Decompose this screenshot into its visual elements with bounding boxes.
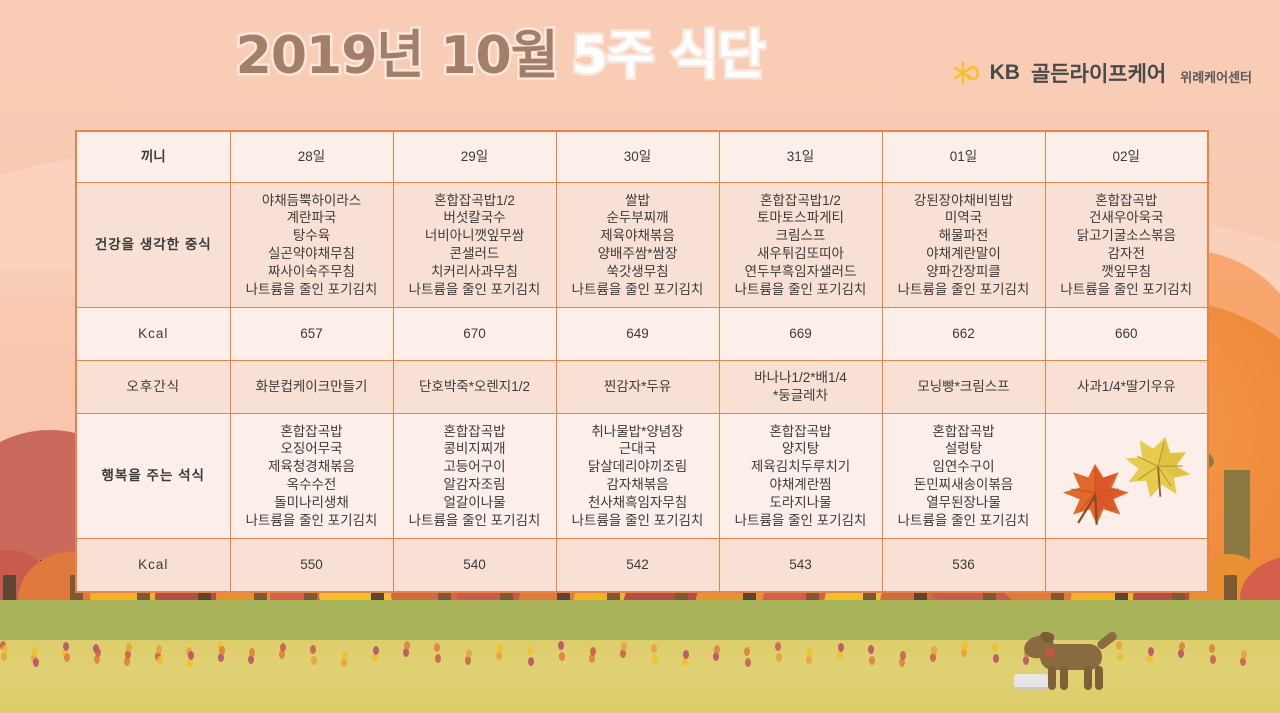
fallen-petal-icon <box>652 655 658 664</box>
fallen-petal-icon <box>280 643 286 652</box>
menu-item: 찐감자*두유 <box>559 378 717 396</box>
dog-bowl-icon <box>1014 674 1048 690</box>
menu-item: 근대국 <box>559 440 717 458</box>
table-header-row: 끼니28일29일30일31일01일02일 <box>76 131 1208 183</box>
row-label: 행복을 주는 석식 <box>76 414 230 539</box>
meal-cell: 혼합잡곡밥양지탕제육김치두루치기야채계란찜도라지나물나트륨을 줄인 포기김치 <box>719 414 882 539</box>
table-row: 오후간식화분컵케이크만들기단호박죽*오렌지1/2찐감자*두유바나나1/2*배1/… <box>76 361 1208 414</box>
fallen-petal-icon <box>435 654 441 663</box>
menu-item: 건새우아욱국 <box>1048 209 1206 227</box>
kcal-cell: 542 <box>556 539 719 593</box>
menu-item: 543 <box>722 556 880 574</box>
meal-cell: 쌀밥순두부찌깨제육야채볶음양배주쌈*쌈장쑥갓생무침나트륨을 줄인 포기김치 <box>556 183 719 308</box>
menu-item: 설렁탕 <box>885 440 1043 458</box>
row-label: Kcal <box>76 539 230 593</box>
column-header-day: 28일 <box>230 131 393 183</box>
column-header-day: 30일 <box>556 131 719 183</box>
menu-item: 강된장야채비빔밥 <box>885 192 1043 210</box>
menu-item: 혼합잡곡밥 <box>396 423 554 441</box>
meal-cell: 야채듬뿍하이라스계란파국탕수육실곤약야채무침짜사이숙주무침나트륨을 줄인 포기김… <box>230 183 393 308</box>
menu-item: 모닝빵*크림스프 <box>885 378 1043 396</box>
menu-item: 알감자조림 <box>396 476 554 494</box>
title-week: 5주 식단 <box>572 26 765 86</box>
fallen-petal-icon <box>838 643 844 652</box>
menu-item: 660 <box>1048 325 1206 343</box>
logo-kb-text: KB <box>990 61 1020 85</box>
menu-item: 크림스프 <box>722 227 880 245</box>
fallen-petal-icon <box>992 643 998 652</box>
snack-cell: 단호박죽*오렌지1/2 <box>393 361 556 414</box>
menu-item: 너비아니깻잎무쌈 <box>396 227 554 245</box>
menu-item: 나트륨을 줄인 포기김치 <box>722 281 880 299</box>
row-label: Kcal <box>76 308 230 361</box>
menu-item: 천사채흑임자무침 <box>559 494 717 512</box>
menu-item: 돌미나리생채 <box>233 494 391 512</box>
snack-cell: 모닝빵*크림스프 <box>882 361 1045 414</box>
kcal-cell: 540 <box>393 539 556 593</box>
maple-leaf-yellow-icon <box>1109 419 1205 513</box>
fallen-petal-icon <box>311 656 317 665</box>
fallen-petal-icon <box>931 646 937 655</box>
dog-tail-icon <box>1096 630 1119 651</box>
fallen-petal-icon <box>1241 650 1247 659</box>
menu-item: 탕수육 <box>233 227 391 245</box>
menu-item: 열무된장나물 <box>885 494 1043 512</box>
fallen-petal-icon <box>434 643 440 652</box>
menu-item: 649 <box>559 325 717 343</box>
dog-leg-icon <box>1048 666 1056 690</box>
kb-logo: KB 골든라이프케어 위례케어센터 <box>952 58 1252 88</box>
fallen-petal-icon <box>126 643 132 652</box>
fallen-petal-icon <box>404 641 410 650</box>
kcal-cell: 536 <box>882 539 1045 593</box>
kcal-cell: 543 <box>719 539 882 593</box>
menu-item: 550 <box>233 556 391 574</box>
kcal-cell: 662 <box>882 308 1045 361</box>
meal-cell: 혼합잡곡밥설렁탕임연수구이돈민찌새송이볶음열무된장나물나트륨을 줄인 포기김치 <box>882 414 1045 539</box>
fallen-petal-icon <box>63 642 69 651</box>
menu-item: 양파간장피클 <box>885 263 1043 281</box>
menu-item: 바나나1/2*배1/4 <box>722 369 880 387</box>
menu-item: 나트륨을 줄인 포기김치 <box>722 512 880 530</box>
row-label: 오후간식 <box>76 361 230 414</box>
menu-item: 혼합잡곡밥 <box>233 423 391 441</box>
kcal-cell: 670 <box>393 308 556 361</box>
menu-item: 해물파전 <box>885 227 1043 245</box>
kcal-cell: 649 <box>556 308 719 361</box>
menu-item: 나트륨을 줄인 포기김치 <box>559 512 717 530</box>
snack-cell: 바나나1/2*배1/4*둥글레차 <box>719 361 882 414</box>
menu-item: 오징어무국 <box>233 440 391 458</box>
fallen-petal-icon <box>1209 644 1215 653</box>
kb-star-icon <box>952 58 982 88</box>
maple-leaf-red-icon <box>1052 452 1138 533</box>
fallen-petal-icon <box>744 647 750 656</box>
meal-cell: 혼합잡곡밥1/2버섯칼국수너비아니깻잎무쌈콘샐러드치커리사과무침나트륨을 줄인 … <box>393 183 556 308</box>
menu-table: 끼니28일29일30일31일01일02일건강을 생각한 중식야채듬뿍하이라스계란… <box>75 130 1209 593</box>
menu-item: 제육청경채볶음 <box>233 458 391 476</box>
menu-item: 662 <box>885 325 1043 343</box>
kcal-cell <box>1045 539 1208 593</box>
menu-item: 나트륨을 줄인 포기김치 <box>233 512 391 530</box>
fallen-petal-icon <box>993 654 999 663</box>
menu-item: *둥글레차 <box>722 387 880 405</box>
menu-item: 짜사이숙주무침 <box>233 263 391 281</box>
menu-item: 계란파국 <box>233 209 391 227</box>
fallen-petal-icon <box>869 656 875 665</box>
fallen-petal-icon <box>962 641 968 650</box>
fallen-petal-icon <box>157 656 163 665</box>
fallen-petal-icon <box>527 646 533 655</box>
meal-cell: 취나물밥*양념장근대국닭살데리야끼조림감자채볶음천사채흑임자무침나트륨을 줄인 … <box>556 414 719 539</box>
menu-item: 콘샐러드 <box>396 245 554 263</box>
fallen-petal-icon <box>33 658 39 667</box>
menu-item: 야채계란찜 <box>722 476 880 494</box>
row-label: 건강을 생각한 중식 <box>76 183 230 308</box>
logo-center-text: 위례케어센터 <box>1180 67 1252 88</box>
menu-item: 야채듬뿍하이라스 <box>233 192 391 210</box>
menu-item: 혼합잡곡밥 <box>722 423 880 441</box>
menu-item: 순두부찌깨 <box>559 209 717 227</box>
table-row: Kcal657670649669662660 <box>76 308 1208 361</box>
menu-item: 혼합잡곡밥 <box>1048 192 1206 210</box>
menu-item: 나트륨을 줄인 포기김치 <box>233 281 391 299</box>
fallen-petal-icon <box>1210 655 1216 664</box>
menu-item: 나트륨을 줄인 포기김치 <box>559 281 717 299</box>
menu-item: 닭살데리야끼조림 <box>559 458 717 476</box>
menu-item: 사과1/4*딸기우유 <box>1048 378 1206 396</box>
dog-leg-icon <box>1084 666 1092 690</box>
meal-cell: 혼합잡곡밥콩비지찌개고등어구이알감자조림얼갈이나물나트륨을 줄인 포기김치 <box>393 414 556 539</box>
menu-item: 혼합잡곡밥1/2 <box>396 192 554 210</box>
meal-cell: 강된장야채비빔밥미역국해물파전야채계란말이양파간장피클나트륨을 줄인 포기김치 <box>882 183 1045 308</box>
fallen-petal-icon <box>807 648 813 657</box>
meal-cell: 혼합잡곡밥1/2토마토스파게티크림스프새우튀김또띠아연두부흑임자샐러드나트륨을 … <box>719 183 882 308</box>
fallen-petal-icon <box>714 645 720 654</box>
column-header-day: 02일 <box>1045 131 1208 183</box>
menu-item: 나트륨을 줄인 포기김치 <box>885 512 1043 530</box>
menu-item: 토마토스파게티 <box>722 209 880 227</box>
menu-item: 취나물밥*양념장 <box>559 423 717 441</box>
menu-item: 나트륨을 줄인 포기김치 <box>396 281 554 299</box>
snack-cell: 사과1/4*딸기우유 <box>1045 361 1208 414</box>
menu-item: 양배주쌈*쌈장 <box>559 245 717 263</box>
menu-item: 657 <box>233 325 391 343</box>
fallen-petal-icon <box>621 642 627 651</box>
menu-item: 화분컵케이크만들기 <box>233 378 391 396</box>
fallen-petal-icon <box>310 645 316 654</box>
menu-item: 혼합잡곡밥 <box>885 423 1043 441</box>
menu-item: 나트륨을 줄인 포기김치 <box>1048 281 1206 299</box>
menu-item: 닭고기굴소스볶음 <box>1048 227 1206 245</box>
fallen-petal-icon <box>64 653 70 662</box>
fallen-petal-icon <box>651 644 657 653</box>
fallen-petal-icon <box>1148 647 1154 656</box>
kcal-cell: 657 <box>230 308 393 361</box>
menu-item: 제육야채볶음 <box>559 227 717 245</box>
menu-item: 얼갈이나물 <box>396 494 554 512</box>
menu-item: 제육김치두루치기 <box>722 458 880 476</box>
autumn-leaves-decoration <box>1046 414 1208 538</box>
fallen-petal-icon <box>342 651 348 660</box>
fallen-petal-icon <box>1179 642 1185 651</box>
menu-item: 돈민찌새송이볶음 <box>885 476 1043 494</box>
menu-item: 임연수구이 <box>885 458 1043 476</box>
fallen-petal-icon <box>156 645 162 654</box>
column-header-day: 31일 <box>719 131 882 183</box>
menu-item: 536 <box>885 556 1043 574</box>
menu-item: 쑥갓생무침 <box>559 263 717 281</box>
menu-item: 670 <box>396 325 554 343</box>
dog-illustration <box>1022 634 1134 692</box>
menu-item: 깻잎무침 <box>1048 263 1206 281</box>
menu-item: 야채계란말이 <box>885 245 1043 263</box>
menu-item: 쌀밥 <box>559 192 717 210</box>
kcal-cell: 669 <box>719 308 882 361</box>
menu-item: 양지탕 <box>722 440 880 458</box>
menu-item: 고등어구이 <box>396 458 554 476</box>
fallen-petal-icon <box>95 648 101 657</box>
fallen-petal-icon <box>249 648 255 657</box>
table-row: Kcal550540542543536 <box>76 539 1208 593</box>
title-date: 2019년 10월 <box>236 26 558 86</box>
snack-cell: 화분컵케이크만들기 <box>230 361 393 414</box>
menu-item: 콩비지찌개 <box>396 440 554 458</box>
fallen-petal-icon <box>188 651 194 660</box>
menu-item: 옥수수전 <box>233 476 391 494</box>
fallen-petal-icon <box>32 647 38 656</box>
menu-item: 나트륨을 줄인 포기김치 <box>885 281 1043 299</box>
table-row: 건강을 생각한 중식야채듬뿍하이라스계란파국탕수육실곤약야채무침짜사이숙주무침나… <box>76 183 1208 308</box>
menu-item: 실곤약야채무침 <box>233 245 391 263</box>
fallen-petal-icon <box>2 645 8 654</box>
menu-item: 도라지나물 <box>722 494 880 512</box>
meal-cell: 혼합잡곡밥오징어무국제육청경채볶음옥수수전돌미나리생채나트륨을 줄인 포기김치 <box>230 414 393 539</box>
menu-item: 감자전 <box>1048 245 1206 263</box>
fallen-petal-icon <box>775 642 781 651</box>
fallen-petal-icon <box>776 653 782 662</box>
column-header-day: 01일 <box>882 131 1045 183</box>
menu-item: 버섯칼국수 <box>396 209 554 227</box>
fallen-petal-icon <box>528 657 534 666</box>
fallen-petal-icon <box>466 649 472 658</box>
fallen-petal-icon <box>373 646 379 655</box>
column-header-day: 29일 <box>393 131 556 183</box>
menu-item: 669 <box>722 325 880 343</box>
menu-item: 단호박죽*오렌지1/2 <box>396 378 554 396</box>
kcal-cell: 660 <box>1045 308 1208 361</box>
column-header-meal: 끼니 <box>76 131 230 183</box>
fallen-petal-icon <box>559 652 565 661</box>
meal-cell <box>1045 414 1208 539</box>
dog-leg-icon <box>1095 666 1103 690</box>
dog-leg-icon <box>1060 666 1068 690</box>
fallen-petal-icon <box>745 658 751 667</box>
menu-item: 혼합잡곡밥1/2 <box>722 192 880 210</box>
menu-item: 연두부흑임자샐러드 <box>722 263 880 281</box>
fallen-petal-icon <box>683 650 689 659</box>
menu-item: 새우튀김또띠아 <box>722 245 880 263</box>
fallen-petal-icon <box>497 644 503 653</box>
menu-item: 542 <box>559 556 717 574</box>
fallen-petal-icon <box>868 645 874 654</box>
page-header: 2019년 10월5주 식단 KB 골든라이프케어 위례케어센터 <box>0 0 1280 128</box>
table-row: 행복을 주는 석식혼합잡곡밥오징어무국제육청경채볶음옥수수전돌미나리생채나트륨을… <box>76 414 1208 539</box>
snack-cell: 찐감자*두유 <box>556 361 719 414</box>
page-title: 2019년 10월5주 식단 <box>0 28 1000 85</box>
meal-cell: 혼합잡곡밥건새우아욱국닭고기굴소스볶음감자전깻잎무침나트륨을 줄인 포기김치 <box>1045 183 1208 308</box>
fallen-petal-icon <box>219 646 225 655</box>
menu-item: 미역국 <box>885 209 1043 227</box>
menu-item: 540 <box>396 556 554 574</box>
fallen-petal-icon <box>590 647 596 656</box>
kcal-cell: 550 <box>230 539 393 593</box>
logo-brand-text: 골든라이프케어 <box>1031 58 1166 88</box>
menu-item: 감자채볶음 <box>559 476 717 494</box>
menu-item: 나트륨을 줄인 포기김치 <box>396 512 554 530</box>
fallen-petal-icon <box>558 641 564 650</box>
menu-item: 치커리사과무침 <box>396 263 554 281</box>
fallen-petal-icon <box>900 651 906 660</box>
